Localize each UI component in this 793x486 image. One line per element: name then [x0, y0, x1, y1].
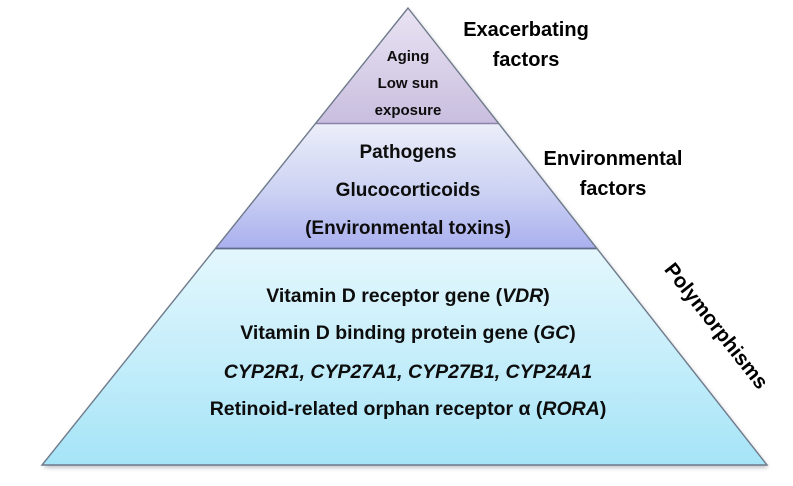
- figure-canvas: Aging Low sun exposure Pathogens Glucoco…: [0, 0, 793, 486]
- environmental-factors-line-1: Environmental: [544, 148, 683, 170]
- apex-line-1: Aging: [387, 48, 430, 65]
- middle-line-2: Glucocorticoids: [336, 180, 481, 201]
- label-environmental-factors: Environmental factors: [544, 148, 683, 200]
- environmental-factors-line-2: factors: [580, 178, 647, 200]
- apex-line-2: Low sun: [378, 75, 439, 92]
- exacerbating-factors-line-1: Exacerbating: [463, 19, 589, 41]
- label-exacerbating-factors: Exacerbating factors: [463, 19, 589, 71]
- middle-line-1: Pathogens: [359, 142, 456, 163]
- pyramid-diagram: Aging Low sun exposure Pathogens Glucoco…: [0, 0, 793, 486]
- apex-line-3: exposure: [375, 102, 442, 119]
- base-line-4: Retinoid-related orphan receptor α (RORA…: [210, 398, 607, 420]
- middle-line-3: (Environmental toxins): [305, 218, 511, 239]
- base-line-1: Vitamin D receptor gene (VDR): [266, 285, 550, 307]
- exacerbating-factors-line-2: factors: [493, 49, 560, 71]
- base-line-2: Vitamin D binding protein gene (GC): [240, 322, 575, 344]
- base-line-3: CYP2R1, CYP27A1, CYP27B1, CYP24A1: [224, 361, 593, 383]
